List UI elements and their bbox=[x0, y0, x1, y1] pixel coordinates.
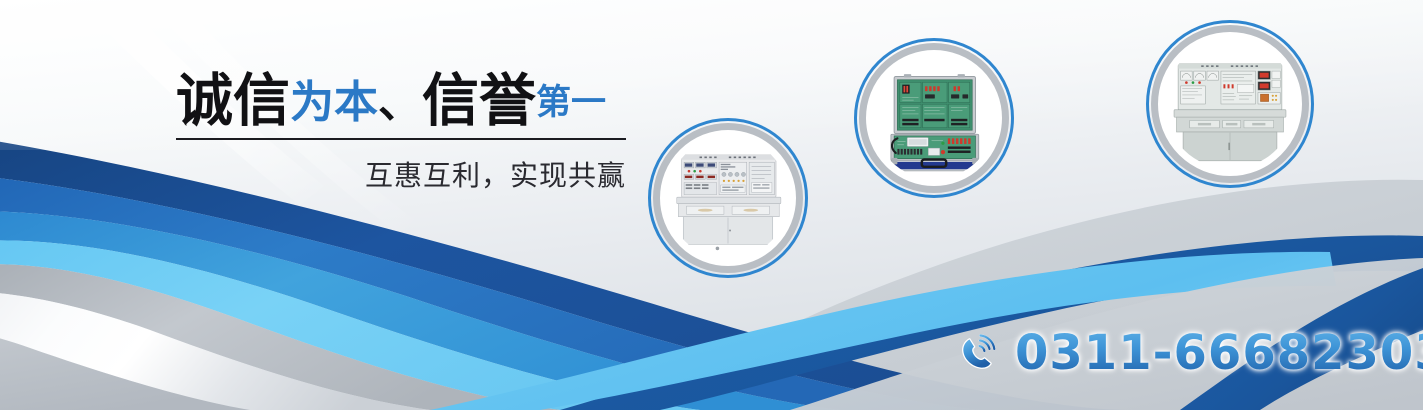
headline-part-4: 第一 bbox=[536, 83, 606, 123]
phone-handset-icon bbox=[955, 330, 1001, 376]
headline-comma: 、 bbox=[378, 77, 422, 128]
product-circle-electrical-training-workbench[interactable] bbox=[648, 118, 808, 278]
circle-outer-ring bbox=[648, 118, 808, 278]
headline-block: 诚信为本、信誉第一 互惠互利，实现共赢 bbox=[176, 72, 626, 194]
circle-outer-ring bbox=[854, 38, 1014, 198]
product-circle-portable-electronics-training-case[interactable] bbox=[854, 38, 1014, 198]
page-title: 诚信为本、信誉第一 bbox=[176, 72, 626, 130]
contact-phone-row[interactable]: 0311-66682303 bbox=[955, 325, 1423, 381]
promotional-banner: 诚信为本、信誉第一 互惠互利，实现共赢 bbox=[0, 0, 1423, 410]
product-circle-motor-control-training-bench[interactable] bbox=[1146, 20, 1314, 188]
headline-part-3: 信誉 bbox=[422, 68, 536, 134]
headline-part-1: 诚信 bbox=[176, 68, 290, 134]
subtitle: 互惠互利，实现共赢 bbox=[176, 140, 626, 194]
headline-part-2: 为本 bbox=[290, 77, 378, 128]
phone-number[interactable]: 0311-66682303 bbox=[1015, 325, 1423, 381]
circle-outer-ring bbox=[1146, 20, 1314, 188]
